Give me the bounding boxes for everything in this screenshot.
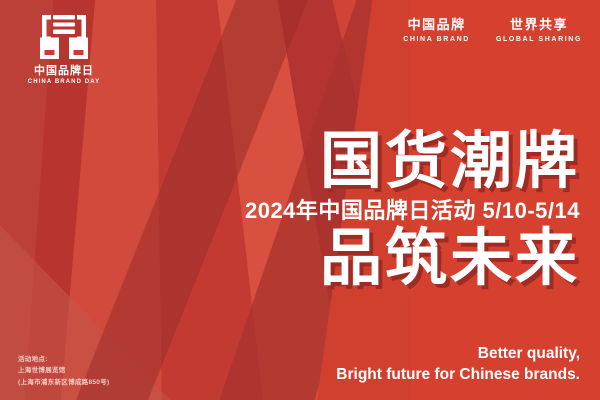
- top-brand-lockup: 中国品牌 CHINA BRAND 世界共享 GLOBAL SHARING: [403, 14, 582, 43]
- headline-event-dates: 2024年中国品牌日活动 5/10-5/14: [160, 200, 580, 222]
- headline-line-1: 国货潮牌: [160, 132, 580, 192]
- pin-character-logo-icon: [35, 14, 93, 60]
- lockup-chinese-label: 中国品牌: [403, 14, 470, 33]
- lockup-item-china-brand: 中国品牌 CHINA BRAND: [403, 14, 470, 43]
- lockup-item-global-sharing: 世界共享 GLOBAL SHARING: [496, 14, 582, 43]
- lockup-english-label: GLOBAL SHARING: [496, 36, 582, 43]
- logo-english-label: CHINA BRAND DAY: [18, 79, 110, 85]
- lockup-chinese-label: 世界共享: [496, 14, 582, 33]
- venue-info: 活动地点: 上海世博展览馆 (上海市浦东新区博成路850号): [18, 354, 109, 388]
- china-brand-day-poster: 中国品牌日 CHINA BRAND DAY 中国品牌 CHINA BRAND 世…: [0, 0, 600, 400]
- venue-name: 上海世博展览馆: [18, 365, 109, 376]
- tagline-line-1: Better quality,: [336, 344, 580, 365]
- main-headline: 国货潮牌 2024年中国品牌日活动 5/10-5/14 品筑未来: [160, 132, 580, 288]
- tagline-line-2: Bright future for Chinese brands.: [336, 365, 580, 386]
- logo-chinese-label: 中国品牌日: [18, 65, 110, 77]
- headline-line-2: 品筑未来: [160, 229, 580, 289]
- lockup-english-label: CHINA BRAND: [403, 36, 470, 43]
- venue-address: (上海市浦东新区博成路850号): [18, 377, 109, 388]
- china-brand-day-logo: 中国品牌日 CHINA BRAND DAY: [18, 14, 110, 85]
- venue-label: 活动地点:: [18, 354, 109, 365]
- english-tagline: Better quality, Bright future for Chines…: [336, 344, 580, 386]
